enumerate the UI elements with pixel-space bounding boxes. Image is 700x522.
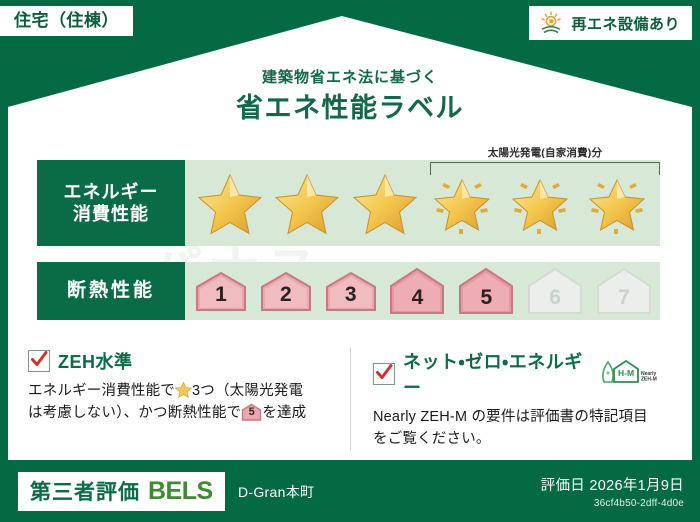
solar-generation-annotation: 太陽光発電(自家消費)分 (430, 148, 660, 175)
building-type-label: 住宅（住棟） (14, 11, 119, 30)
checkbox-checked-icon (373, 363, 395, 385)
svg-text:H-M: H-M (618, 368, 634, 378)
sun-icon (538, 11, 564, 35)
insulation-performance-row: 断熱性能 1 2 (37, 262, 660, 320)
house-level-icon: 2 (258, 269, 314, 313)
claims-section: ZEH水準 エネルギー消費性能で3つ（太陽光発電 は考慮しない）、かつ断熱性能で… (28, 348, 672, 451)
star-icon (197, 170, 263, 236)
claim-zeh-text-3: は考慮しない）、かつ断熱性能で (28, 405, 241, 421)
solar-bracket (430, 162, 660, 175)
bels-logo-en: BELS (148, 477, 213, 506)
claim-zeh-text-1: エネルギー消費性能で (28, 383, 175, 399)
claim-net-zero-body: Nearly ZEH-M の要件は評価書の特記項目をご覧ください。 (373, 406, 660, 451)
svg-text:ZEH-M: ZEH-M (641, 376, 657, 382)
energy-label-line1: エネルギー (64, 181, 159, 204)
house-level-number: 6 (525, 286, 585, 310)
house-badge-number: 5 (241, 404, 262, 421)
nearly-zeh-m-logo-icon: H-M Nearly ZEH-M (600, 358, 660, 391)
star-solar-icon (429, 170, 495, 236)
evaluation-id: 36cf4b50-2dff-4d0e (541, 498, 684, 509)
energy-performance-label: エネルギー 消費性能 (37, 160, 185, 246)
claim-net-zero-energy: ネット・ゼロ・エネルギー H-M Nearly ZEH-M Nearly ZEH… (350, 348, 672, 451)
insulation-label-text: 断熱性能 (67, 279, 155, 303)
property-name: D-Gran本町 (238, 482, 314, 502)
energy-label-line2: 消費性能 (73, 203, 149, 226)
house-badge-inline: 5 (241, 403, 262, 421)
evaluation-date: 評価日 2026年1月9日 (541, 474, 684, 495)
star-icon-inline (175, 381, 192, 398)
house-level-number: 3 (323, 283, 379, 307)
claim-zeh-title: ZEH水準 (58, 348, 133, 374)
insulation-level-scale: 1 2 3 (193, 262, 654, 320)
star-solar-icon (507, 170, 573, 236)
star-icon (352, 170, 418, 236)
house-level-icon: 1 (193, 269, 249, 313)
solar-generation-label: 太陽光発電(自家消費)分 (430, 148, 660, 160)
star-solar-icon (584, 170, 650, 236)
bels-logo: 第三者評価 BELS (18, 472, 225, 511)
insulation-levels-area: 1 2 3 (185, 262, 660, 320)
claim-zeh-standard: ZEH水準 エネルギー消費性能で3つ（太陽光発電 は考慮しない）、かつ断熱性能で… (28, 348, 350, 451)
evaluation-info: 評価日 2026年1月9日 36cf4b50-2dff-4d0e (541, 474, 684, 509)
bels-logo-jp: 第三者評価 (30, 476, 140, 506)
star-icon (274, 170, 340, 236)
house-level-number: 7 (594, 286, 654, 310)
house-level-icon-inactive: 6 (525, 266, 585, 316)
insulation-performance-label: 断熱性能 (37, 262, 185, 320)
house-level-number: 1 (193, 283, 249, 307)
claim-net-zero-header: ネット・ゼロ・エネルギー H-M Nearly ZEH-M (373, 348, 660, 400)
house-level-icon: 5 (456, 266, 516, 316)
building-type-badge: 住宅（住棟） (0, 6, 133, 36)
claim-zeh-header: ZEH水準 (28, 348, 338, 374)
house-level-number: 4 (387, 286, 447, 310)
page-title: 省エネ性能ラベル (0, 86, 700, 125)
house-level-number: 2 (258, 283, 314, 307)
claim-zeh-body: エネルギー消費性能で3つ（太陽光発電 は考慮しない）、かつ断熱性能で5を達成 (28, 380, 338, 425)
bels-energy-label: パナス 住宅（住棟） 再エネ設備あり (0, 0, 700, 522)
claim-zeh-text-4: を達成 (262, 405, 306, 421)
house-level-icon: 3 (323, 269, 379, 313)
house-level-icon: 4 (387, 266, 447, 316)
label-subtitle: 建築物省エネ法に基づく (0, 66, 700, 87)
claim-zeh-text-2: 3つ（太陽光発電 (192, 383, 303, 399)
renewable-equipment-label: 再エネ設備あり (571, 13, 680, 34)
house-level-icon-inactive: 7 (594, 266, 654, 316)
claim-net-zero-title: ネット・ゼロ・エネルギー (403, 348, 588, 400)
checkbox-checked-icon (28, 350, 50, 372)
house-level-number: 5 (456, 286, 516, 310)
renewable-equipment-badge: 再エネ設備あり (529, 6, 692, 40)
footer: 第三者評価 BELS D-Gran本町 評価日 2026年1月9日 36cf4b… (0, 460, 700, 522)
